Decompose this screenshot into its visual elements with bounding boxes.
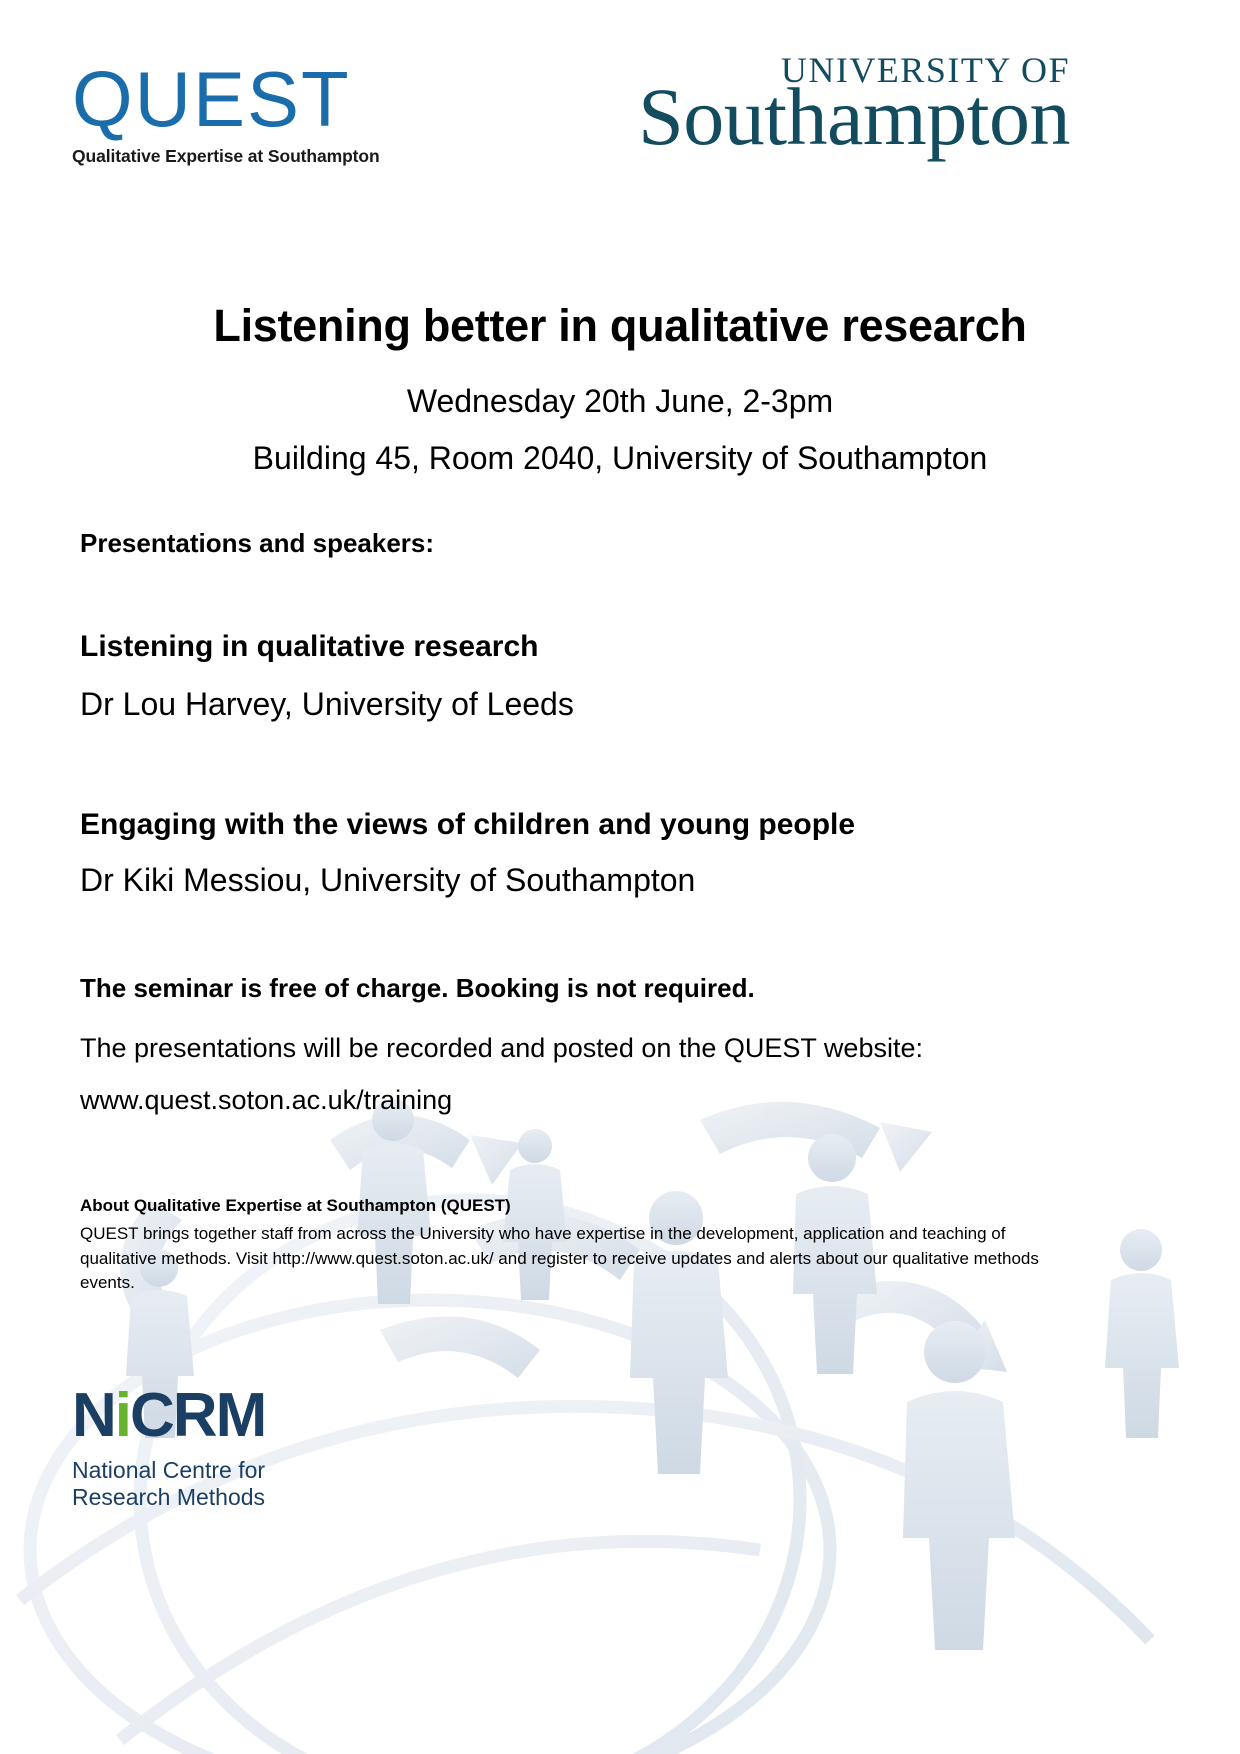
talk-title: Listening in qualitative research [80, 630, 538, 664]
southampton-logo-line2: Southampton [638, 74, 1070, 160]
ncrm-wordmark: NiCRM [72, 1385, 332, 1447]
event-venue: Building 45, Room 2040, University of So… [0, 440, 1240, 477]
talk-speaker: Dr Lou Harvey, University of Leeds [80, 686, 574, 723]
university-of-southampton-logo: UNIVERSITY OF Southampton [570, 52, 1070, 172]
people-figures [126, 1099, 1179, 1650]
ncrm-mark-part1: N [72, 1381, 115, 1450]
about-quest-body: QUEST brings together staff from across … [80, 1222, 1040, 1296]
website-url[interactable]: www.quest.soton.ac.uk/training [80, 1085, 452, 1116]
quest-wordmark: QUEST [72, 62, 402, 136]
ncrm-logo: NiCRM National Centre for Research Metho… [72, 1385, 332, 1511]
ncrm-subtitle-line1: National Centre for [72, 1457, 332, 1484]
presentations-and-speakers-heading: Presentations and speakers: [80, 528, 434, 559]
ncrm-mark-part2: CRM [130, 1381, 265, 1450]
ncrm-subtitle: National Centre for Research Methods [72, 1457, 332, 1511]
poster-header: QUEST Qualitative Expertise at Southampt… [0, 0, 1240, 230]
about-quest-block: About Qualitative Expertise at Southampt… [80, 1196, 1040, 1296]
page-title: Listening better in qualitative research [0, 300, 1240, 352]
about-quest-heading: About Qualitative Expertise at Southampt… [80, 1196, 1040, 1216]
quest-logo: QUEST Qualitative Expertise at Southampt… [72, 62, 402, 167]
ncrm-subtitle-line2: Research Methods [72, 1484, 332, 1511]
booking-note: The seminar is free of charge. Booking i… [80, 973, 755, 1004]
ncrm-mark-dot: i [115, 1381, 130, 1450]
quest-tagline: Qualitative Expertise at Southampton [72, 146, 402, 167]
talk-title: Engaging with the views of children and … [80, 808, 855, 842]
event-date-time: Wednesday 20th June, 2-3pm [0, 383, 1240, 420]
talk-speaker: Dr Kiki Messiou, University of Southampt… [80, 862, 695, 899]
recording-note: The presentations will be recorded and p… [80, 1033, 923, 1064]
